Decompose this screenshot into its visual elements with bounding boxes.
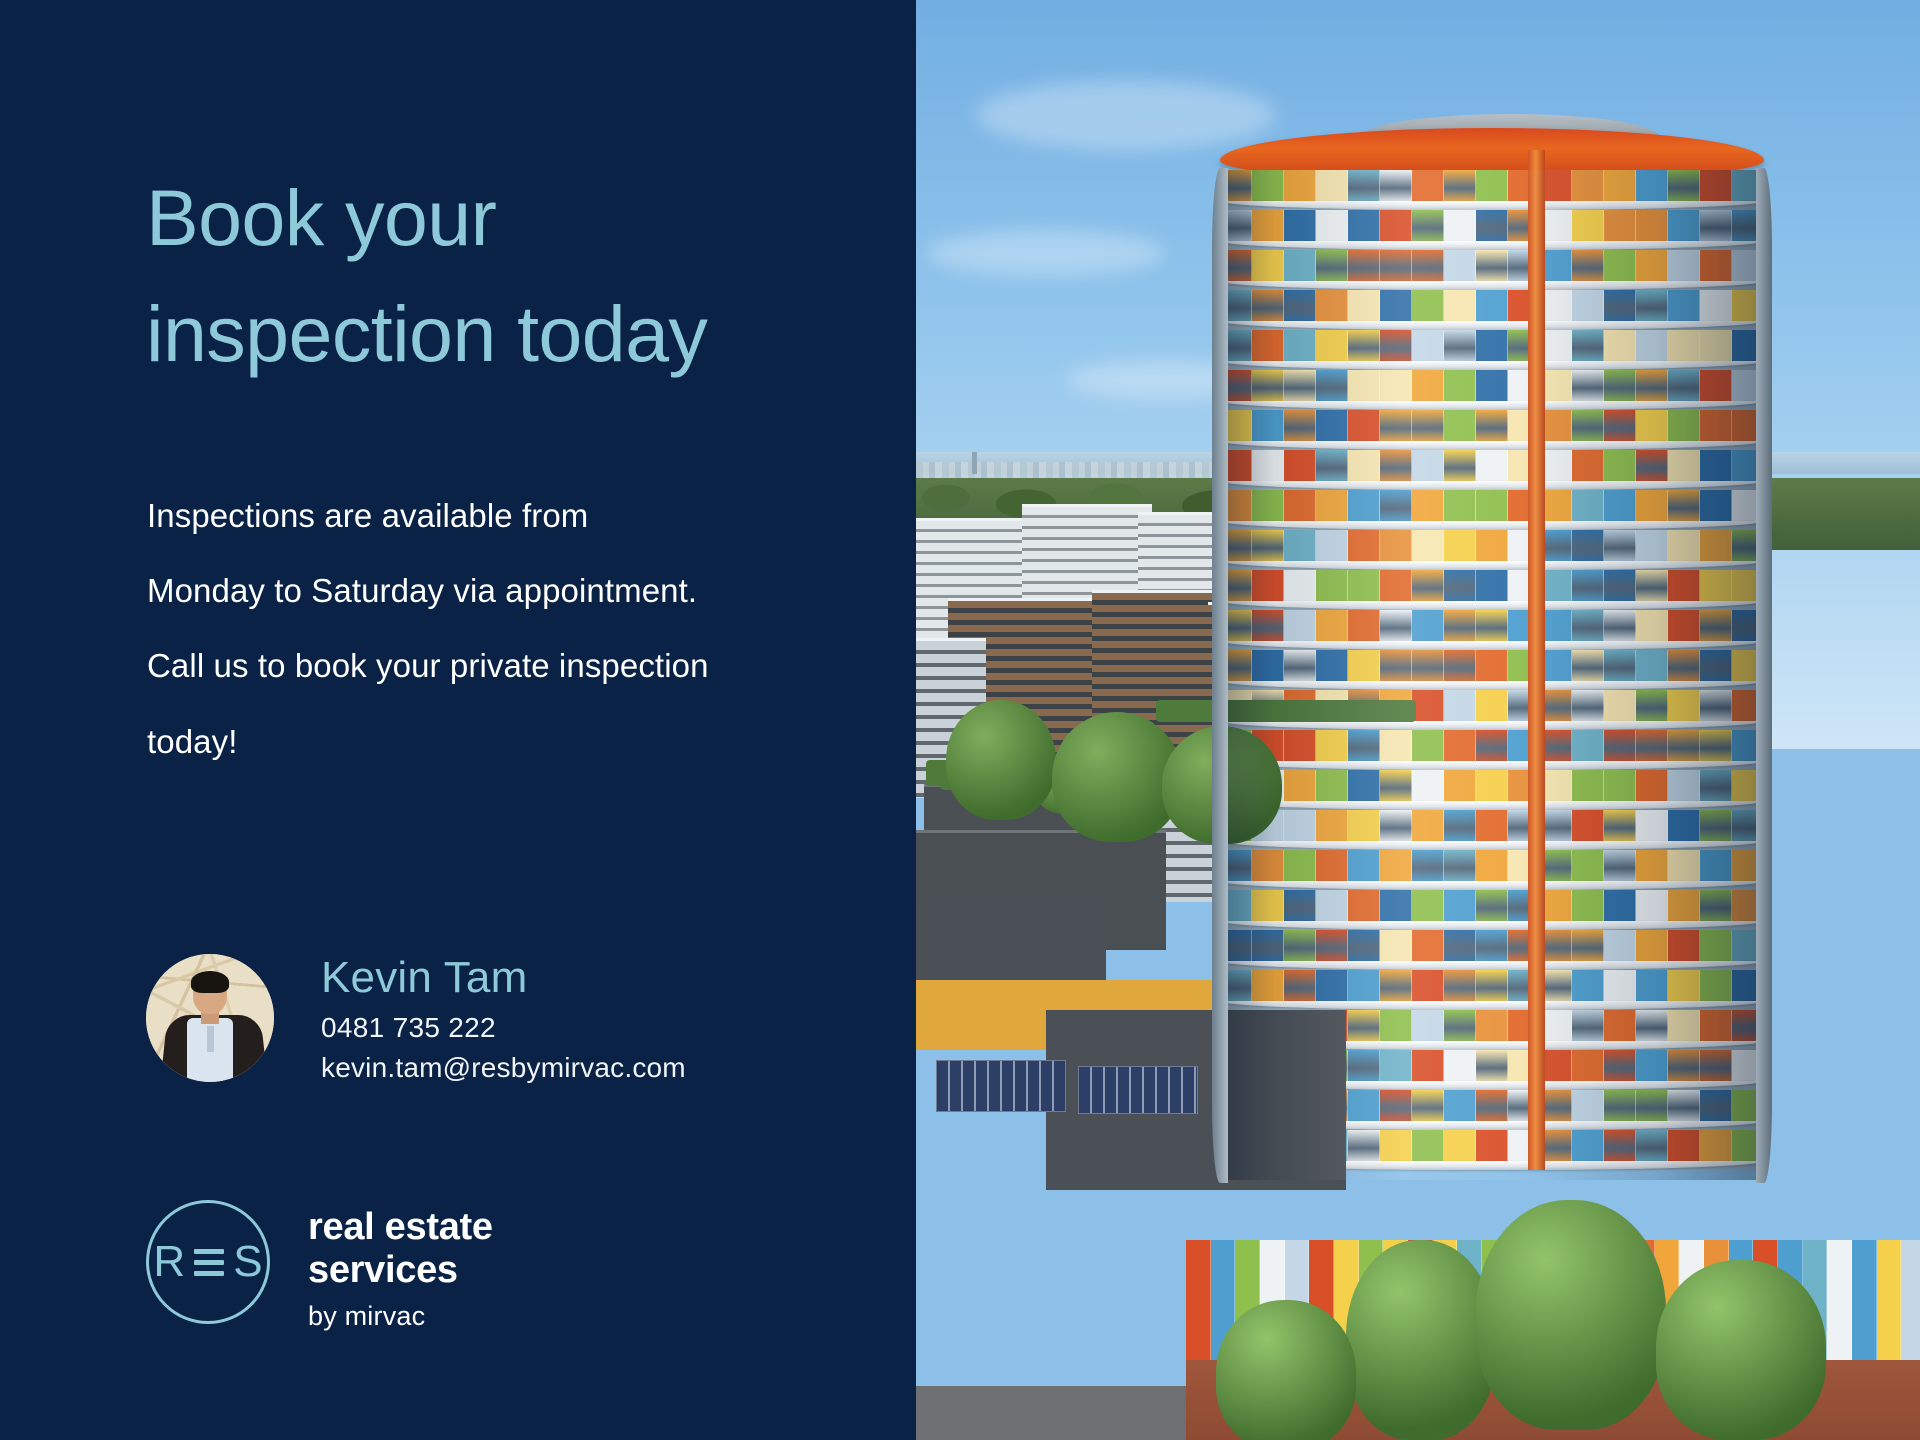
tower-floor: [1220, 370, 1764, 410]
portrait-hair: [191, 971, 229, 993]
tower-floor: [1220, 650, 1764, 690]
tower-floor: [1220, 810, 1764, 850]
tower-floor: [1220, 570, 1764, 610]
tower-floor: [1220, 530, 1764, 570]
agent-phone[interactable]: 0481 735 222: [321, 1008, 881, 1048]
marketing-poster: Book your inspection today Inspections a…: [0, 0, 1920, 1440]
tower-floor: [1220, 850, 1764, 890]
tower-floor: [1220, 210, 1764, 250]
logo-line-1: real estate: [308, 1206, 493, 1249]
tower-floor: [1220, 330, 1764, 370]
body-line-2: Monday to Saturday via appointment.: [147, 553, 887, 628]
body-line-3: Call us to book your private inspection: [147, 628, 887, 703]
avatar-portrait: [146, 954, 274, 1082]
body-line-4: today!: [147, 704, 887, 779]
brand-logo: R S real estate services by mirvac: [146, 1200, 786, 1330]
distant-spire: [972, 452, 977, 474]
res-circle-logo-icon: R S: [146, 1200, 270, 1324]
tower-floor: [1220, 290, 1764, 330]
agent-name: Kevin Tam: [321, 952, 881, 1004]
logo-line-3: by mirvac: [308, 1299, 493, 1334]
tower-floor: [1220, 930, 1764, 970]
tower-floor: [1220, 970, 1764, 1010]
headline-line-1: Book your: [146, 160, 906, 276]
tower-left-edge: [1212, 168, 1228, 1183]
logo-equals-icon: [194, 1249, 224, 1276]
tower-floor: [1220, 450, 1764, 490]
property-photo: [916, 0, 1920, 1440]
tree: [1476, 1200, 1666, 1430]
tower-floor: [1220, 610, 1764, 650]
building-block: [1022, 504, 1152, 600]
body-copy: Inspections are available from Monday to…: [147, 478, 887, 779]
tower-floor: [1220, 490, 1764, 530]
page-title: Book your inspection today: [146, 160, 906, 392]
logo-line-2: services: [308, 1249, 493, 1292]
tree: [946, 700, 1056, 820]
solar-panel-array: [1078, 1066, 1198, 1114]
low-rooftop: [916, 900, 1106, 990]
agent-details: Kevin Tam 0481 735 222 kevin.tam@resbymi…: [321, 952, 881, 1087]
tower-floor: [1220, 410, 1764, 450]
avatar: [146, 954, 274, 1082]
tower-floor: [1220, 890, 1764, 930]
body-line-1: Inspections are available from: [147, 478, 887, 553]
solar-panel-array: [936, 1060, 1066, 1112]
tower-floor: [1220, 770, 1764, 810]
tree: [1216, 1300, 1356, 1440]
headline-line-2: inspection today: [146, 276, 906, 392]
tower-floor: [1220, 250, 1764, 290]
tower-right-edge: [1756, 168, 1772, 1183]
logo-letter-r: R: [153, 1240, 185, 1284]
cloud: [926, 230, 1166, 276]
logo-letter-s: S: [233, 1240, 262, 1284]
tower-orange-spine: [1528, 150, 1545, 1170]
tree: [1346, 1240, 1496, 1440]
left-content-panel: Book your inspection today Inspections a…: [0, 0, 916, 1440]
logo-wordmark: real estate services by mirvac: [308, 1206, 493, 1334]
green-terrace: [1156, 700, 1416, 722]
agent-contact-card: Kevin Tam 0481 735 222 kevin.tam@resbymi…: [146, 952, 886, 1102]
tower-floor: [1220, 730, 1764, 770]
tree: [1656, 1260, 1826, 1440]
agent-email[interactable]: kevin.tam@resbymirvac.com: [321, 1048, 881, 1088]
portrait-tie: [207, 1026, 214, 1052]
tower-floor: [1220, 170, 1764, 210]
